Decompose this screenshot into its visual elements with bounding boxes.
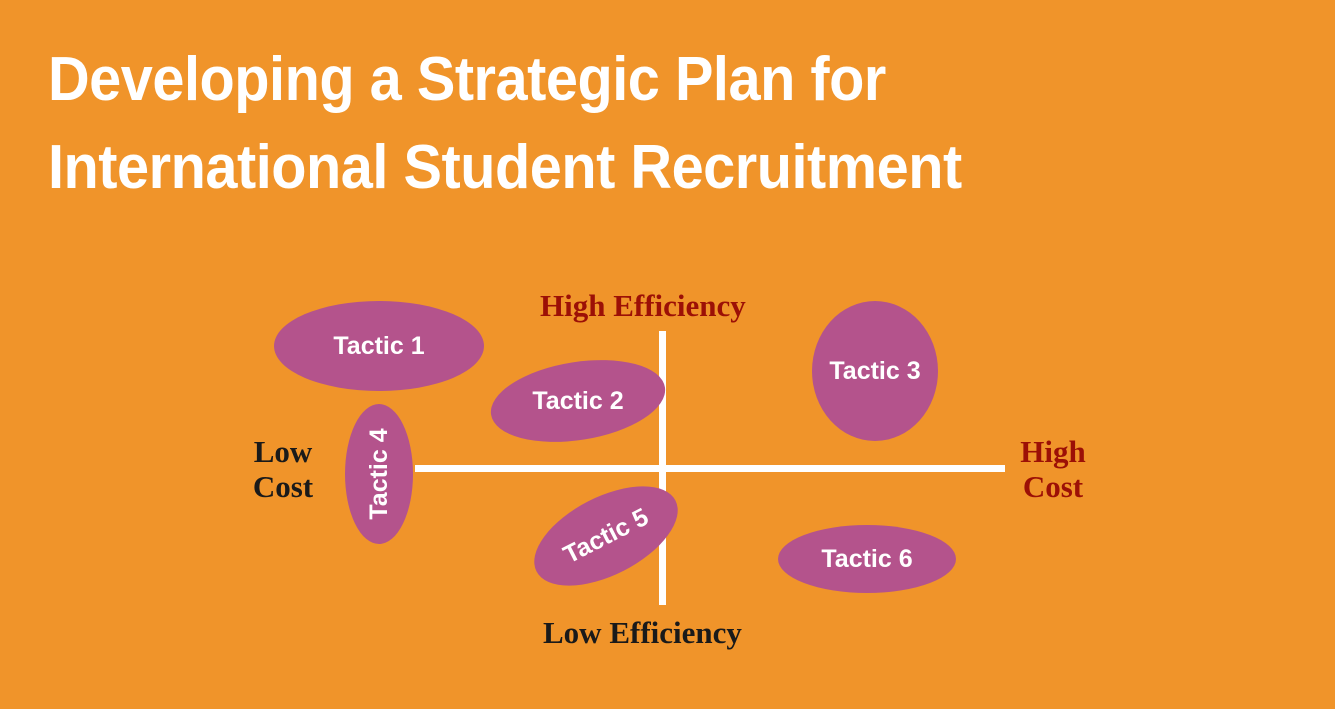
bubble-tactic-6[interactable]: Tactic 6 [778, 525, 956, 593]
bubble-tactic-3[interactable]: Tactic 3 [812, 301, 938, 441]
axis-label-low-efficiency: Low Efficiency [543, 615, 742, 651]
bubble-tactic-4[interactable]: Tactic 4 [345, 404, 413, 544]
slide-canvas: Developing a Strategic Plan for Internat… [0, 0, 1335, 709]
bubble-tactic-4-label: Tactic 4 [309, 440, 449, 508]
bubble-tactic-1[interactable]: Tactic 1 [274, 301, 484, 391]
bubble-tactic-2[interactable]: Tactic 2 [485, 349, 671, 454]
bubble-tactic-2-label: Tactic 2 [490, 362, 666, 440]
axis-label-high-efficiency: High Efficiency [540, 288, 746, 324]
bubble-tactic-5[interactable]: Tactic 5 [519, 466, 693, 606]
bubble-tactic-3-label: Tactic 3 [812, 301, 938, 441]
bubble-tactic-5-label: Tactic 5 [519, 466, 693, 606]
cost-efficiency-matrix: High Efficiency Low Efficiency High Cost… [0, 0, 1335, 709]
bubble-tactic-6-label: Tactic 6 [778, 525, 956, 593]
bubble-tactic-1-label: Tactic 1 [274, 301, 484, 391]
cost-axis-line [415, 465, 1005, 472]
axis-label-high-cost: High Cost [1008, 435, 1098, 504]
